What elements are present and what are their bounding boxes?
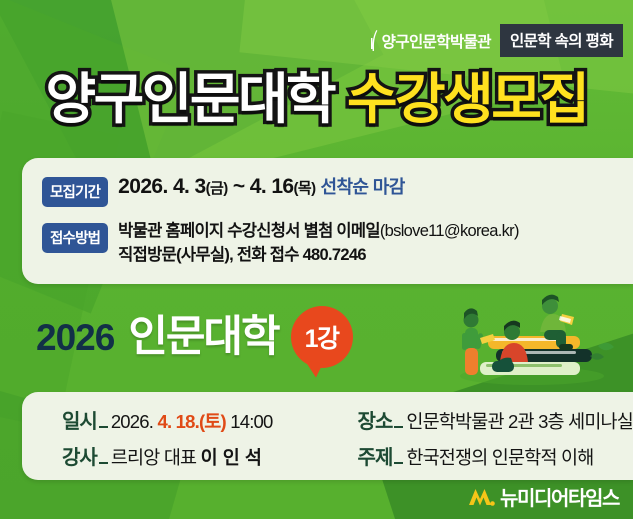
- datetime-suffix: 14:00: [226, 411, 273, 432]
- info-card: 모집기간 2026. 4. 3(금) ~ 4. 16(목)선착순 마감 접수방법…: [22, 158, 633, 284]
- page-title: 양구인문대학 수강생모집: [0, 72, 633, 127]
- poster-root: 양구인문학박물관 인문학 속의 평화 양구인문대학 수강생모집 모집기간 202…: [0, 0, 633, 519]
- detail-place: 장소 인문학박물관 2관 3층 세미나실: [358, 405, 633, 434]
- application-method-value: 박물관 홈페이지 수강신청서 별첨 이메일(bslove11@korea.kr)…: [118, 221, 519, 265]
- detail-column-left: 일시 2026. 4. 18.(토) 14:00 강사 르리앙 대표 이 인 석: [22, 405, 340, 480]
- detail-lecturer: 강사 르리앙 대표 이 인 석: [62, 441, 340, 470]
- detail-place-value: 인문학박물관 2관 3층 세미나실: [406, 408, 633, 434]
- lecturer-affiliation: 르리앙 대표: [111, 447, 201, 468]
- datetime-prefix: 2026.: [111, 411, 158, 432]
- lecture-name: 인문대학: [128, 316, 278, 359]
- application-method-row: 접수방법 박물관 홈페이지 수강신청서 별첨 이메일(bslove11@kore…: [22, 207, 633, 265]
- detail-lecturer-value: 르리앙 대표 이 인 석: [111, 444, 262, 470]
- period-separator: ~: [233, 175, 245, 198]
- title-part-recruit: 수강생모집: [347, 68, 588, 130]
- application-line-1: 박물관 홈페이지 수강신청서 별첨 이메일(bslove11@korea.kr): [118, 221, 519, 242]
- detail-topic: 주제 한국전쟁의 인문학적 이해: [358, 441, 633, 470]
- people-on-books-illustration: [440, 288, 625, 388]
- application-email-address: (bslove11@korea.kr): [380, 222, 519, 240]
- detail-lecturer-label: 강사: [62, 441, 97, 470]
- theme-badge: 인문학 속의 평화: [500, 24, 623, 57]
- application-email-intro: 박물관 홈페이지 수강신청서 별첨 이메일: [118, 222, 380, 240]
- period-note: 선착순 마감: [320, 177, 404, 197]
- recruitment-period-value: 2026. 4. 3(금) ~ 4. 16(목)선착순 마감: [118, 175, 405, 198]
- period-end-weekday: (목): [293, 180, 315, 197]
- museum-name: 양구인문학박물관: [382, 30, 491, 52]
- recruitment-period-row: 모집기간 2026. 4. 3(금) ~ 4. 16(목)선착순 마감: [22, 158, 633, 207]
- lecturer-name: 이 인 석: [201, 447, 262, 468]
- datetime-highlight: 4. 18.(토): [157, 411, 225, 432]
- museum-brand: 양구인문학박물관: [371, 30, 491, 52]
- period-start-weekday: (금): [206, 180, 228, 197]
- museum-brand-mark-icon: [371, 30, 378, 51]
- publisher-logo: 뉴미디어타임스: [468, 482, 619, 511]
- recruitment-period-tag: 모집기간: [42, 177, 108, 207]
- detail-datetime: 일시 2026. 4. 18.(토) 14:00: [62, 405, 340, 434]
- detail-place-label: 장소: [358, 405, 393, 434]
- period-end-date: 4. 16: [250, 175, 294, 198]
- publisher-name: 뉴미디어타임스: [500, 482, 619, 511]
- detail-dash-icon: [394, 462, 403, 464]
- detail-column-right: 장소 인문학박물관 2관 3층 세미나실 주제 한국전쟁의 인문학적 이해: [340, 405, 633, 480]
- detail-card: 일시 2026. 4. 18.(토) 14:00 강사 르리앙 대표 이 인 석…: [22, 392, 633, 480]
- detail-dash-icon: [99, 462, 108, 464]
- period-start-date: 2026. 4. 3: [118, 175, 205, 198]
- detail-dash-icon: [394, 426, 403, 428]
- detail-datetime-value: 2026. 4. 18.(토) 14:00: [111, 408, 273, 434]
- lecture-headline: 2026 인문대학 1강: [36, 306, 353, 368]
- title-part-university: 양구인문대학: [46, 68, 335, 130]
- detail-dash-icon: [99, 426, 108, 428]
- newmediatimes-n-logo-icon: [468, 486, 495, 508]
- detail-topic-label: 주제: [358, 441, 393, 470]
- lecture-number-label: 1강: [305, 319, 339, 355]
- application-method-tag: 접수방법: [42, 223, 108, 253]
- detail-datetime-label: 일시: [62, 405, 97, 434]
- lecture-year: 2026: [36, 319, 114, 356]
- lecture-number-badge: 1강: [291, 306, 353, 368]
- header: 양구인문학박물관 인문학 속의 평화: [371, 24, 623, 57]
- application-line-2: 직접방문(사무실), 전화 접수 480.7246: [118, 245, 519, 266]
- detail-topic-value: 한국전쟁의 인문학적 이해: [406, 444, 593, 470]
